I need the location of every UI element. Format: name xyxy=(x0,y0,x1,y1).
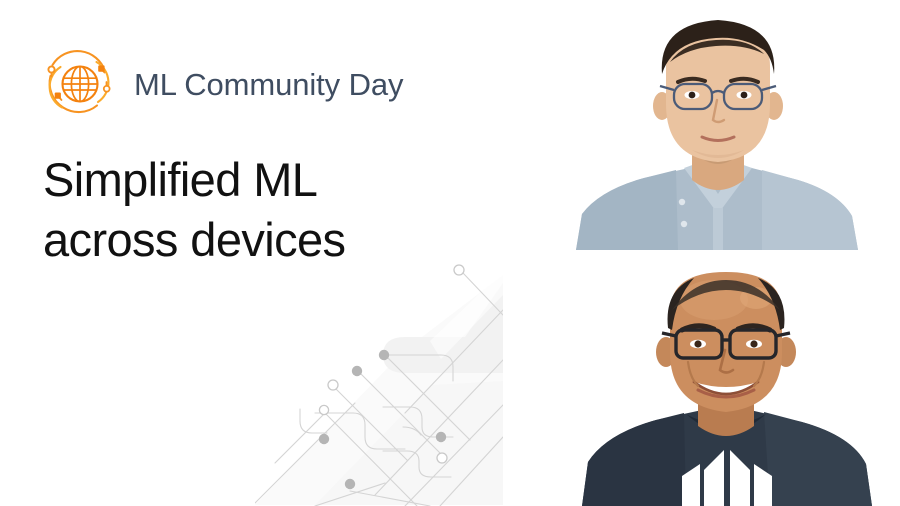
speaker-headshot-2 xyxy=(558,254,900,506)
brand-name: ML Community Day xyxy=(134,69,403,100)
page-title-line-1: Simplified ML xyxy=(43,150,503,210)
speaker-headshot-1 xyxy=(558,0,900,250)
brand-lockup: ML Community Day xyxy=(40,44,460,124)
globe-orbit-icon xyxy=(40,45,120,123)
circuit-nodes-decoration xyxy=(255,255,503,506)
page-title: Simplified ML across devices xyxy=(43,150,503,269)
slide-canvas: ML Community Day Simplified ML across de… xyxy=(0,0,900,506)
